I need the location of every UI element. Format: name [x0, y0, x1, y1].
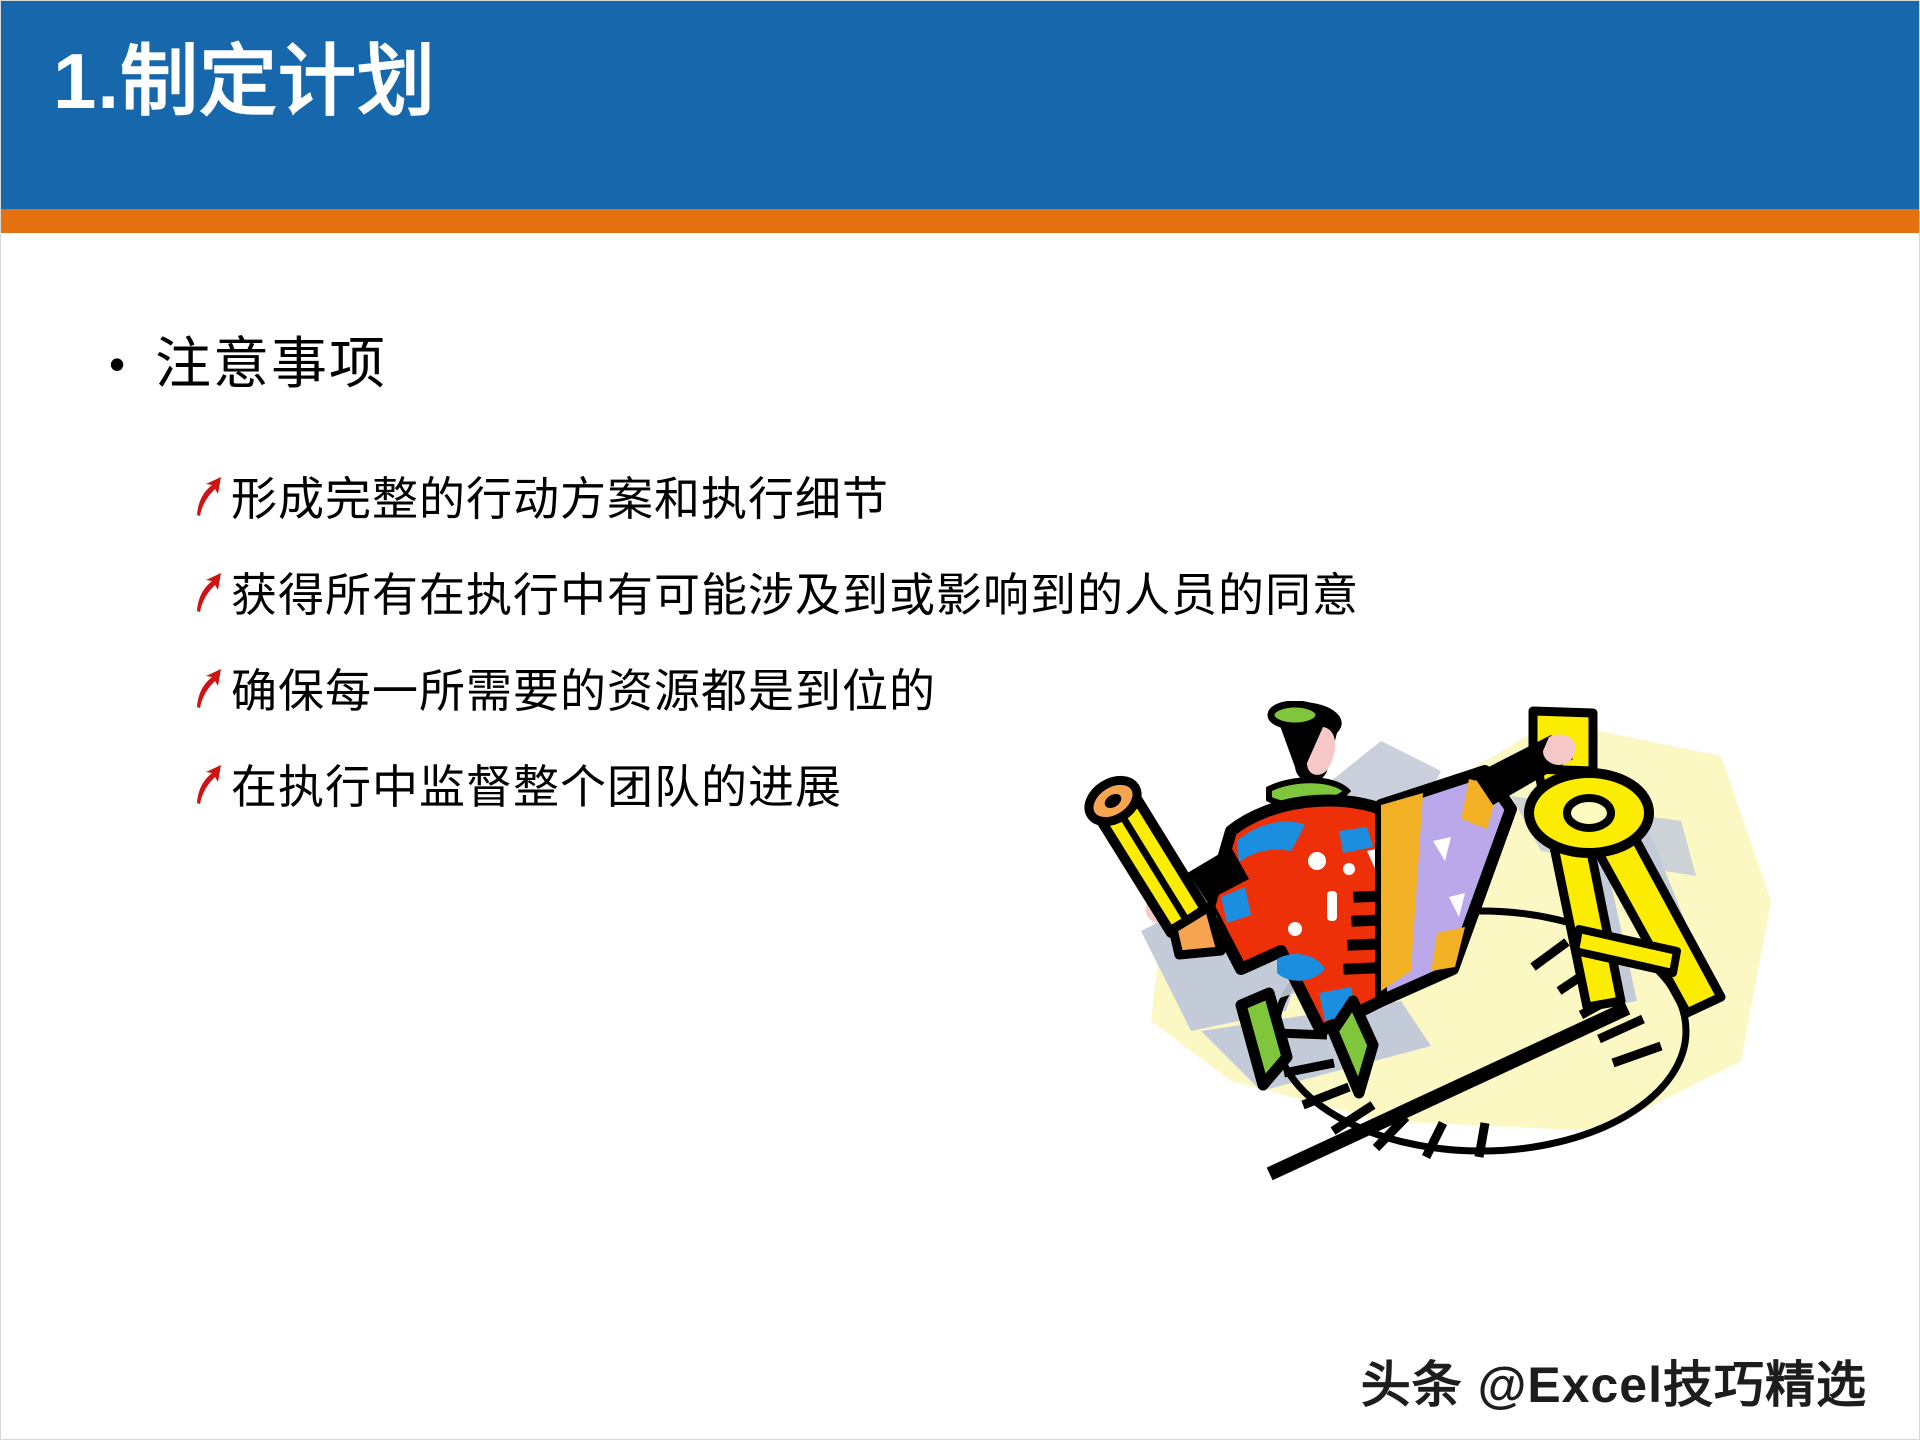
red-curved-arrow-icon — [179, 759, 231, 811]
list-item-label: 在执行中监督整个团队的进展 — [231, 759, 842, 815]
header-accent-rule — [1, 209, 1920, 233]
list-item-label: 获得所有在执行中有可能涉及到或影响到的人员的同意 — [231, 567, 1359, 623]
page-title: 1.制定计划 — [53, 37, 436, 127]
list-item: 获得所有在执行中有可能涉及到或影响到的人员的同意 — [179, 547, 1679, 643]
slide-canvas: 1.制定计划 • 注意事项 形成完整的行动方案和执行细节 — [0, 0, 1920, 1440]
red-curved-arrow-icon — [179, 471, 231, 523]
watermark-text: 头条 @Excel技巧精选 — [1361, 1345, 1867, 1417]
bullet-dot-icon: • — [109, 333, 155, 395]
list-item-label: 形成完整的行动方案和执行细节 — [231, 471, 889, 527]
person-drawing-with-compass-clipart — [1081, 701, 1781, 1241]
red-curved-arrow-icon — [179, 567, 231, 619]
main-bullet-label: 注意事项 — [155, 333, 387, 395]
main-bullet-item: • 注意事项 — [109, 333, 387, 395]
list-item: 形成完整的行动方案和执行细节 — [179, 451, 1679, 547]
list-item-label: 确保每一所需要的资源都是到位的 — [231, 663, 936, 719]
red-curved-arrow-icon — [179, 663, 231, 715]
